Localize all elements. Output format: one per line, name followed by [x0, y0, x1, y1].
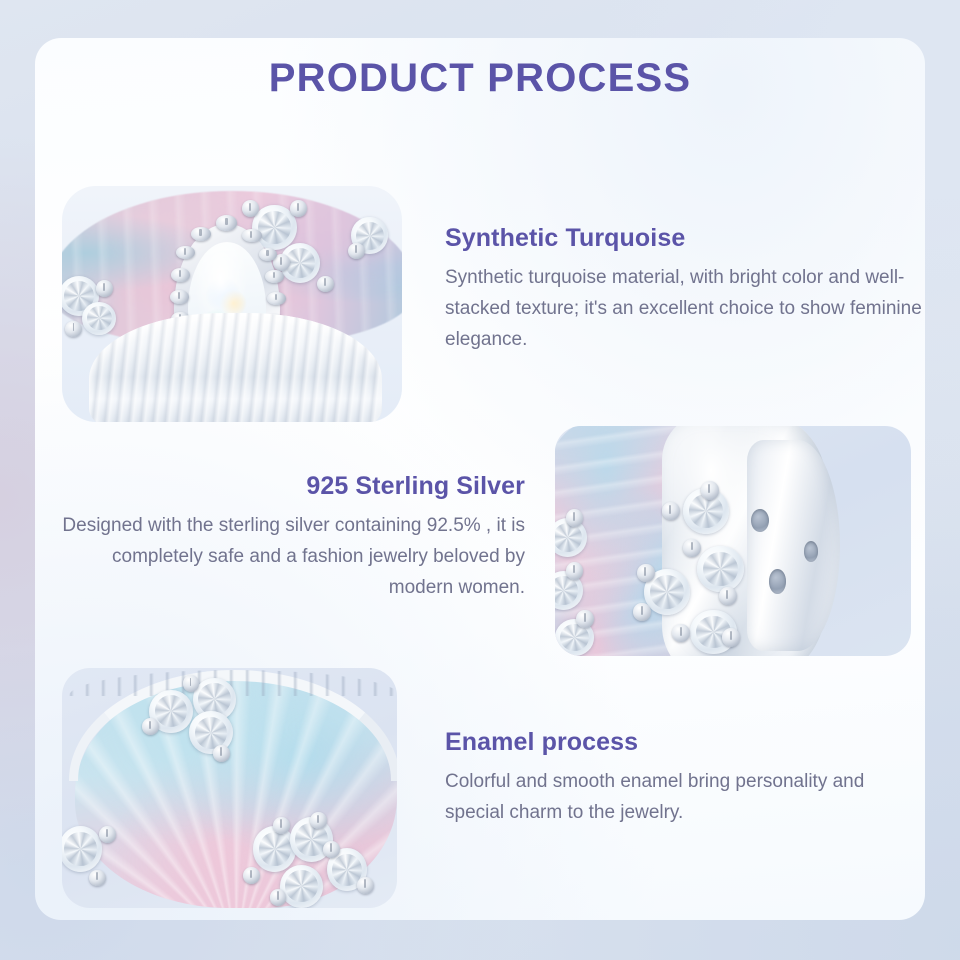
section-body: Synthetic turquoise material, with brigh… [445, 262, 925, 355]
silver-bead [323, 841, 340, 858]
silver-bead [171, 268, 190, 282]
silver-bead [662, 502, 680, 520]
section-body: Designed with the sterling silver contai… [55, 510, 525, 603]
silver-bead [719, 587, 737, 605]
section-heading: Synthetic Turquoise [445, 224, 925, 253]
silver-bead [242, 200, 259, 217]
silver-bead [701, 481, 719, 499]
product-photo-925-sterling-silver [555, 426, 911, 656]
silver-bead [683, 539, 701, 557]
ring-band [89, 313, 381, 422]
silver-bead [317, 276, 334, 293]
silver-bead [96, 280, 113, 297]
infographic-page: PRODUCT PROCESS [0, 0, 960, 960]
silver-bead [170, 290, 189, 304]
product-photo-synthetic-turquoise [62, 186, 402, 422]
silver-bead [310, 812, 327, 829]
silver-bead [99, 826, 116, 843]
section-text-synthetic-turquoise: Synthetic Turquoise Synthetic turquoise … [445, 224, 925, 355]
section-body: Colorful and smooth enamel bring persona… [445, 766, 925, 828]
silver-bead [183, 675, 200, 692]
silver-bead [216, 215, 237, 230]
silver-cutout [751, 509, 769, 532]
silver-bead [243, 867, 260, 884]
section-text-enamel-process: Enamel process Colorful and smooth ename… [445, 728, 925, 828]
section-heading: 925 Sterling Silver [55, 472, 525, 501]
silver-bead [637, 564, 655, 582]
silver-bead [89, 870, 106, 887]
beaded-rim [69, 670, 397, 780]
silver-bead [265, 270, 284, 284]
silver-bead [242, 229, 262, 243]
product-photo-enamel-process [62, 668, 397, 908]
silver-bead [290, 200, 307, 217]
zirconia-stone [697, 546, 743, 592]
zirconia-stone [82, 302, 116, 335]
silver-bead [348, 243, 365, 260]
silver-bead [267, 292, 286, 306]
section-text-925-sterling-silver: 925 Sterling Silver Designed with the st… [55, 472, 525, 603]
silver-cutout [769, 569, 787, 594]
silver-bead [191, 227, 211, 241]
silver-bead [270, 889, 287, 906]
silver-bead [176, 246, 195, 260]
page-title: PRODUCT PROCESS [35, 56, 925, 101]
silver-bead [273, 817, 290, 834]
silver-bead [722, 628, 740, 646]
section-heading: Enamel process [445, 728, 925, 757]
content-card: PRODUCT PROCESS [35, 38, 925, 920]
scalloped-edge [747, 440, 840, 652]
silver-bead [213, 745, 230, 762]
zirconia-stone [280, 865, 324, 908]
silver-bead [357, 877, 374, 894]
